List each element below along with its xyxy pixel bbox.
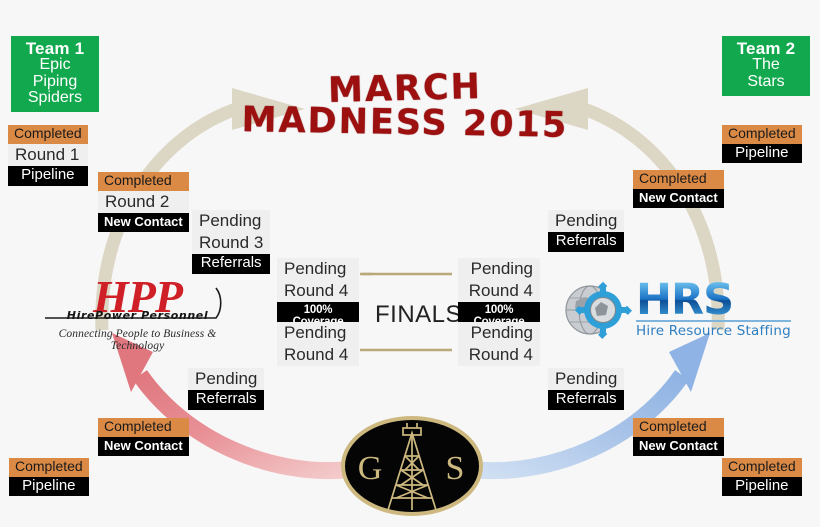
left-round-4-bottom-round: Round 4 bbox=[277, 344, 359, 366]
right-bottom-round-2-card[interactable]: Completed New Contact bbox=[633, 418, 724, 456]
left-bottom-round-2-card[interactable]: Completed New Contact bbox=[98, 418, 189, 456]
hrs-logo: HRS Hire Resource Staffing bbox=[560, 279, 791, 341]
team-1-sub-3: Spiders bbox=[11, 90, 99, 106]
right-round-4-bottom-card[interactable]: Pending Round 4 bbox=[458, 322, 540, 366]
left-bottom-round-1-stage: Pipeline bbox=[9, 477, 89, 497]
right-bottom-round-3-card[interactable]: Pending Referrals bbox=[548, 368, 624, 410]
left-bottom-round-3-status: Pending bbox=[188, 368, 264, 390]
team-2-name: Team 2 bbox=[722, 40, 810, 57]
right-round-3-status: Pending bbox=[548, 210, 624, 232]
team-1-sub-1: Epic bbox=[11, 57, 99, 73]
hpp-logo: HPP HirePower Personnel Connecting Peopl… bbox=[40, 276, 235, 352]
gs-letter-left: G bbox=[358, 450, 383, 487]
right-round-2-status: Completed bbox=[633, 170, 724, 189]
right-round-1-status: Completed bbox=[722, 125, 802, 144]
right-round-4-top-card[interactable]: Pending Round 4 100% Coverage bbox=[458, 258, 540, 331]
right-bottom-round-2-stage: New Contact bbox=[633, 437, 724, 457]
right-bottom-round-1-card[interactable]: Completed Pipeline bbox=[722, 458, 802, 496]
right-bottom-round-3-status: Pending bbox=[548, 368, 624, 390]
title-line-2: MADNESS 2015 bbox=[240, 103, 571, 143]
right-round-3-stage: Referrals bbox=[548, 232, 624, 252]
page-title: MARCH MADNESS 2015 bbox=[240, 72, 570, 141]
left-bottom-round-3-card[interactable]: Pending Referrals bbox=[188, 368, 264, 410]
team-2-sub-2: Stars bbox=[722, 74, 810, 90]
left-round-1-stage: Pipeline bbox=[8, 166, 88, 186]
left-bottom-round-1-card[interactable]: Completed Pipeline bbox=[9, 458, 89, 496]
team-1-sub-2: Piping bbox=[11, 74, 99, 90]
team-2-sub-1: The bbox=[722, 57, 810, 73]
left-round-4-top-status: Pending bbox=[277, 258, 359, 280]
right-round-2-stage: New Contact bbox=[633, 189, 724, 209]
right-bottom-round-1-stage: Pipeline bbox=[722, 477, 802, 497]
hpp-tagline: HirePower Personnel bbox=[40, 309, 235, 322]
left-round-4-top-card[interactable]: Pending Round 4 100% Coverage bbox=[277, 258, 359, 331]
left-round-1-status: Completed bbox=[8, 125, 88, 144]
left-round-3-stage: Referrals bbox=[192, 254, 270, 274]
hrs-wordmark: HRS bbox=[636, 281, 791, 320]
left-bottom-round-2-status: Completed bbox=[98, 418, 189, 437]
right-bottom-round-2-status: Completed bbox=[633, 418, 724, 437]
team-1-name: Team 1 bbox=[11, 40, 99, 57]
right-round-4-top-round: Round 4 bbox=[458, 280, 540, 302]
globe-gear-icon bbox=[560, 279, 632, 341]
finals-label: FINALS bbox=[375, 301, 462, 329]
team-2-banner: Team 2 The Stars bbox=[722, 36, 810, 96]
left-bottom-round-2-stage: New Contact bbox=[98, 437, 189, 457]
left-round-1-card[interactable]: Completed Round 1 Pipeline bbox=[8, 125, 88, 186]
left-round-3-card[interactable]: Pending Round 3 Referrals bbox=[192, 210, 270, 274]
gs-oval-derrick-icon: G S bbox=[340, 415, 485, 518]
left-bottom-round-3-stage: Referrals bbox=[188, 390, 264, 410]
right-round-2-card[interactable]: Completed New Contact bbox=[633, 170, 724, 208]
right-bottom-round-1-status: Completed bbox=[722, 458, 802, 477]
right-round-1-stage: Pipeline bbox=[722, 144, 802, 164]
left-round-4-bottom-card[interactable]: Pending Round 4 bbox=[277, 322, 359, 366]
left-round-4-top-round: Round 4 bbox=[277, 280, 359, 302]
team-1-banner: Team 1 Epic Piping Spiders bbox=[11, 36, 99, 112]
right-round-4-bottom-round: Round 4 bbox=[458, 344, 540, 366]
left-round-2-status: Completed bbox=[98, 172, 189, 191]
right-bottom-round-3-stage: Referrals bbox=[548, 390, 624, 410]
right-round-1-card[interactable]: Completed Pipeline bbox=[722, 125, 802, 163]
right-round-4-top-status: Pending bbox=[458, 258, 540, 280]
left-round-2-round: Round 2 bbox=[98, 191, 189, 213]
march-madness-bracket-infographic: MARCH MADNESS 2015 Team 1 Epic Piping Sp… bbox=[0, 0, 820, 527]
right-round-3-card[interactable]: Pending Referrals bbox=[548, 210, 624, 252]
left-bottom-round-1-status: Completed bbox=[9, 458, 89, 477]
gs-oil-logo: G S bbox=[340, 415, 485, 523]
right-round-4-bottom-status: Pending bbox=[458, 322, 540, 344]
gs-letter-right: S bbox=[446, 450, 465, 487]
hrs-tagline: Hire Resource Staffing bbox=[636, 323, 791, 339]
left-round-2-stage: New Contact bbox=[98, 213, 189, 233]
left-round-1-round: Round 1 bbox=[8, 144, 88, 166]
left-round-4-bottom-status: Pending bbox=[277, 322, 359, 344]
left-round-2-card[interactable]: Completed Round 2 New Contact bbox=[98, 172, 189, 232]
left-round-3-round: Round 3 bbox=[192, 232, 270, 254]
left-round-3-status: Pending bbox=[192, 210, 270, 232]
